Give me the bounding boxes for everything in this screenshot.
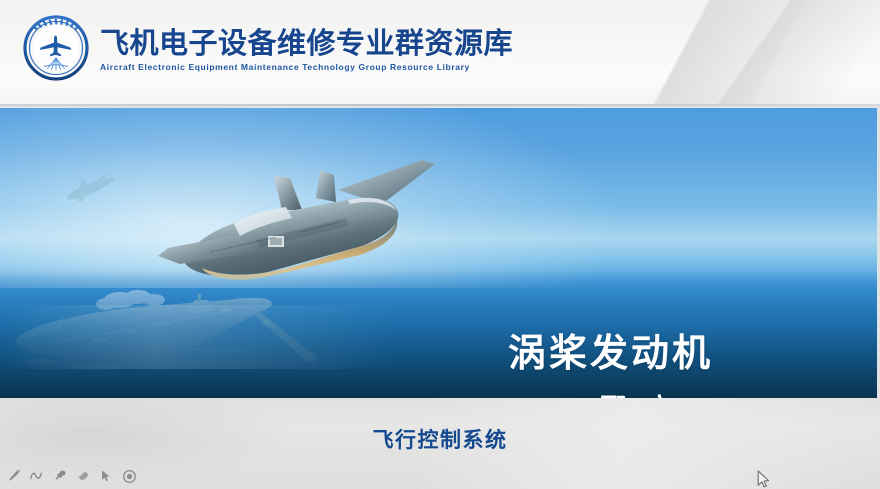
site-title-en: Aircraft Electronic Equipment Maintenanc… bbox=[100, 62, 513, 73]
brand-lockup[interactable]: 飞机电子设备维修专业群资源库 Aircraft Electronic Equip… bbox=[22, 14, 513, 82]
header-sheen-decoration-secondary bbox=[680, 0, 880, 106]
slide-canvas[interactable]: 涡桨发动机 鄢 立 bbox=[0, 108, 877, 398]
site-header: 飞机电子设备维修专业群资源库 Aircraft Electronic Equip… bbox=[0, 0, 880, 106]
eraser-icon[interactable] bbox=[73, 467, 93, 485]
presentation-viewer: 飞机电子设备维修专业群资源库 Aircraft Electronic Equip… bbox=[0, 0, 880, 489]
course-caption: 飞行控制系统 bbox=[0, 427, 880, 453]
site-title-cn: 飞机电子设备维修专业群资源库 bbox=[100, 26, 513, 60]
slide-title: 涡桨发动机 bbox=[508, 330, 713, 376]
header-sheen-decoration bbox=[590, 0, 880, 106]
header-divider bbox=[0, 104, 880, 106]
pen-icon[interactable] bbox=[4, 467, 24, 485]
record-circle-icon[interactable] bbox=[119, 467, 139, 485]
brand-text-block: 飞机电子设备维修专业群资源库 Aircraft Electronic Equip… bbox=[100, 24, 513, 73]
highlighter-icon[interactable] bbox=[50, 467, 70, 485]
squiggle-line-icon[interactable] bbox=[27, 467, 47, 485]
sea-glint-decoration bbox=[0, 305, 877, 369]
annotation-toolbar[interactable] bbox=[2, 466, 141, 486]
aircraft-circular-emblem-icon bbox=[22, 14, 90, 82]
cursor-arrow-icon[interactable] bbox=[96, 467, 116, 485]
